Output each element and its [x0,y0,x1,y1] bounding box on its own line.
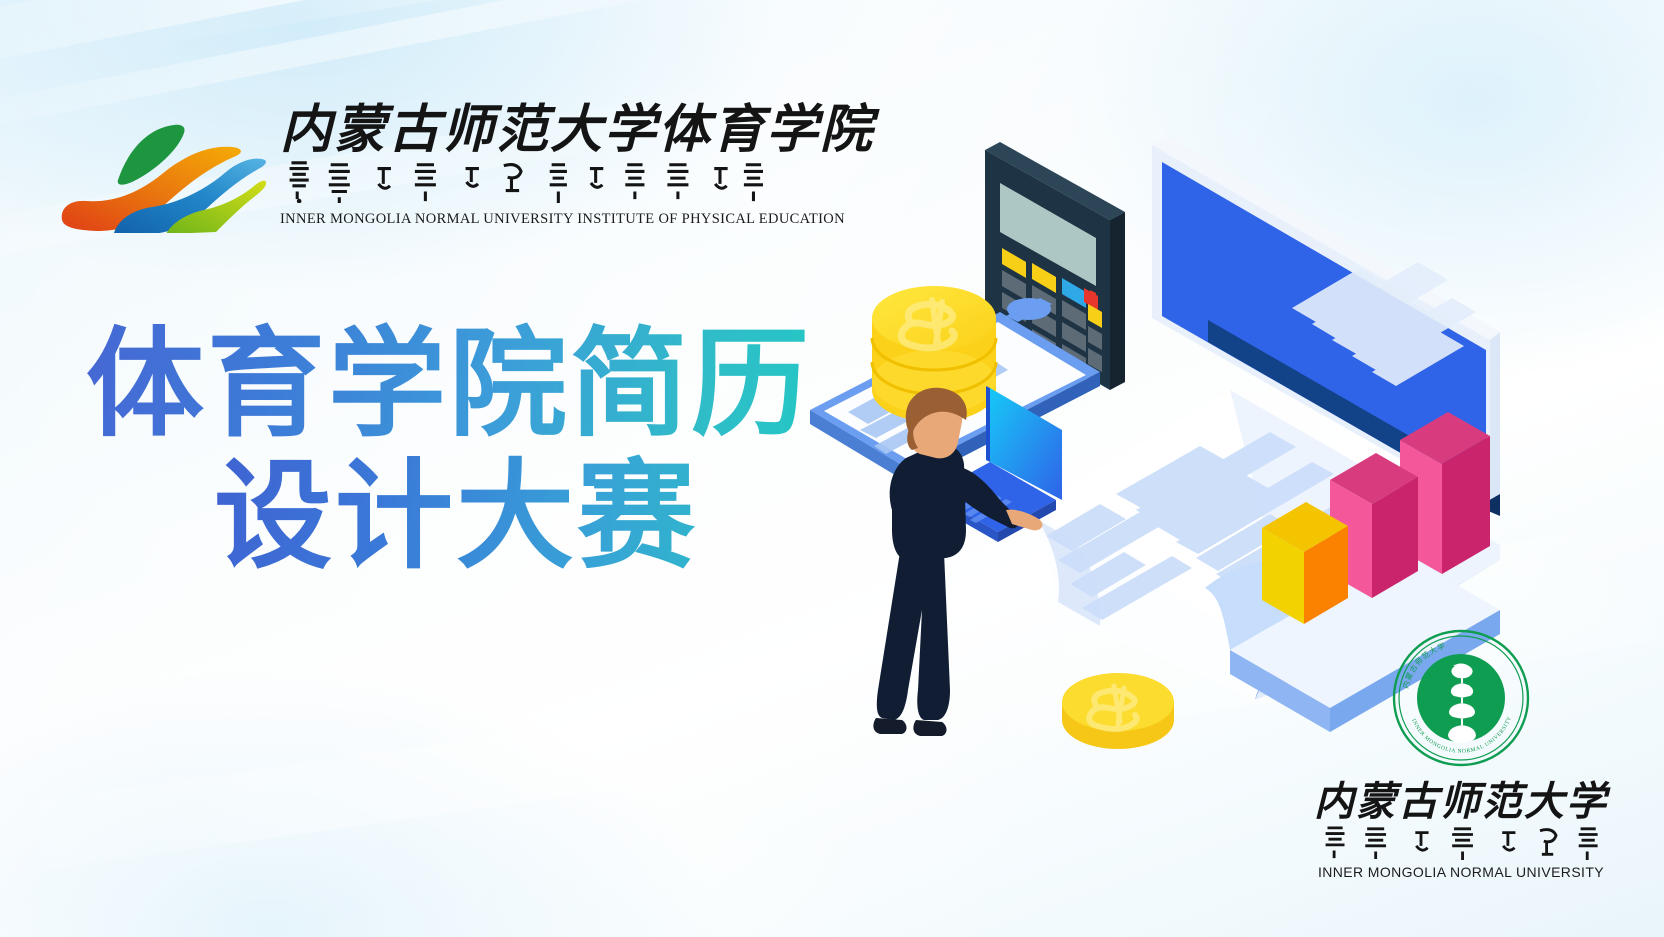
header-logo-text: 内蒙古师范大学体育学院 [280,100,874,228]
footer-university-logo: 内蒙古师范大学 INNER MONGOLIA NORMAL UNIVERSITY… [1296,628,1626,928]
title-line-2: 设计大赛 [214,450,806,582]
poster-canvas: 内蒙古师范大学体育学院 [0,0,1664,937]
background-tint-bottom-left [0,667,720,937]
university-seal-icon: 内蒙古师范大学 INNER MONGOLIA NORMAL UNIVERSITY [1391,628,1531,768]
header-university-logo: 内蒙古师范大学体育学院 [56,100,856,265]
footer-logo-english-name: INNER MONGOLIA NORMAL UNIVERSITY [1296,864,1626,880]
mongolian-script-icon [280,159,763,203]
light-streak [0,0,1014,82]
header-logo-chinese-name: 内蒙古师范大学体育学院 [280,104,874,157]
title-line-1: 体育学院简历 [86,318,806,450]
poster-title: 体育学院简历 设计大赛 [86,318,806,582]
light-streak [113,0,1510,49]
single-coin-icon [1062,673,1174,749]
swoosh-icon [56,108,266,233]
mongolian-script-icon [1319,826,1602,860]
header-logo-english-name: INNER MONGOLIA NORMAL UNIVERSITY INSTITU… [280,211,785,228]
footer-logo-chinese-name: 内蒙古师范大学 [1296,782,1626,822]
